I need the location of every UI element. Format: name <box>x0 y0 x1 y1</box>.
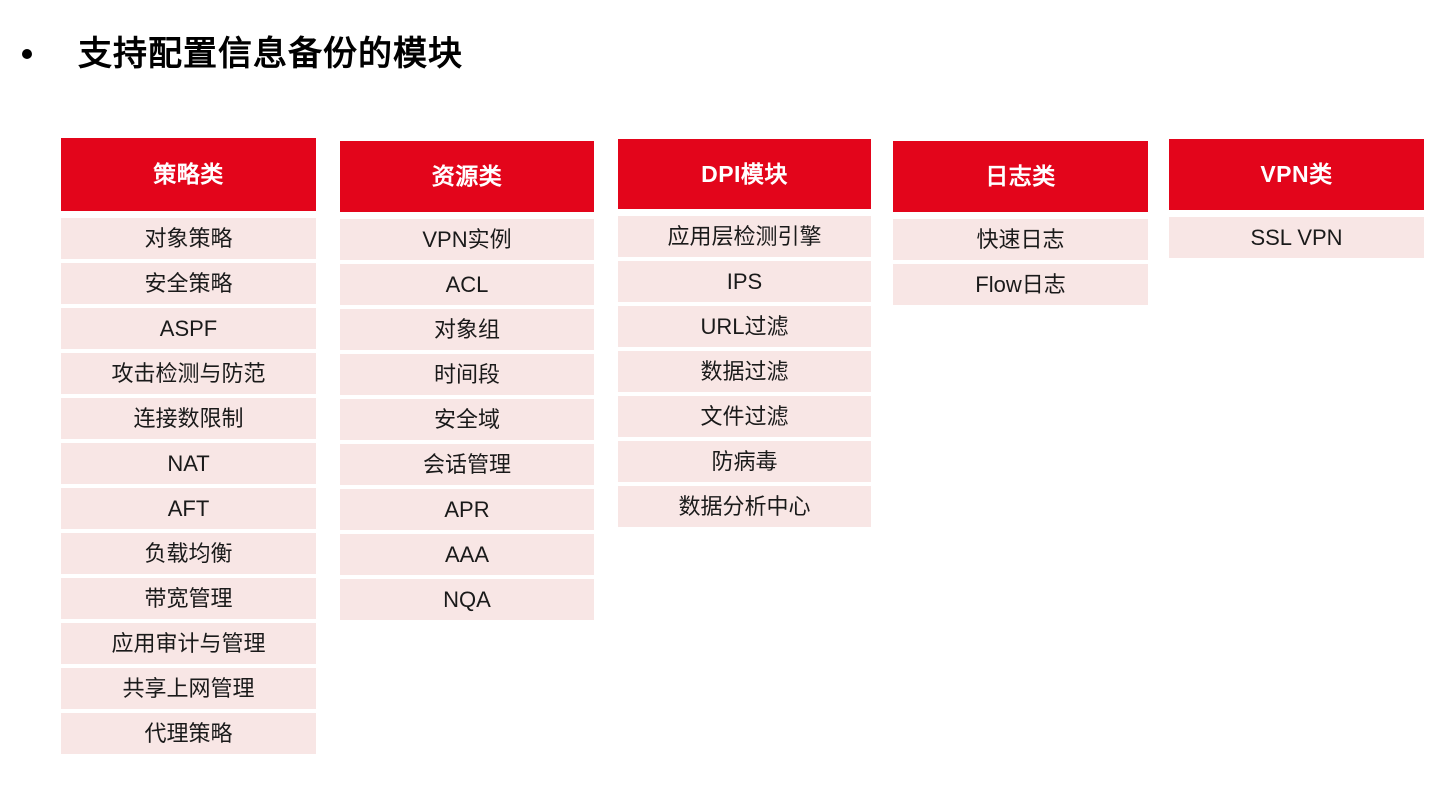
category-item-list-policy: 对象策略 安全策略 ASPF 攻击检测与防范 连接数限制 NAT AFT 负载均… <box>61 218 316 754</box>
list-item[interactable]: SSL VPN <box>1169 217 1424 258</box>
page-title: 支持配置信息备份的模块 <box>78 37 463 71</box>
column-header-log: 日志类 <box>893 141 1148 212</box>
list-item[interactable]: 连接数限制 <box>61 398 316 439</box>
list-item[interactable]: 带宽管理 <box>61 578 316 619</box>
list-item[interactable]: AAA <box>340 534 594 575</box>
list-item[interactable]: 会话管理 <box>340 444 594 485</box>
list-item[interactable]: URL过滤 <box>618 306 871 347</box>
list-item[interactable]: 应用审计与管理 <box>61 623 316 664</box>
list-item[interactable]: 攻击检测与防范 <box>61 353 316 394</box>
column-header-dpi: DPI模块 <box>618 139 871 209</box>
list-item[interactable]: 防病毒 <box>618 441 871 482</box>
list-item[interactable]: ASPF <box>61 308 316 349</box>
bullet-point-icon <box>22 49 32 59</box>
list-item[interactable]: 对象策略 <box>61 218 316 259</box>
list-item[interactable]: 数据过滤 <box>618 351 871 392</box>
list-item[interactable]: NAT <box>61 443 316 484</box>
category-column-policy: 策略类 对象策略 安全策略 ASPF 攻击检测与防范 连接数限制 NAT AFT… <box>61 138 316 754</box>
list-item[interactable]: 代理策略 <box>61 713 316 754</box>
list-item[interactable]: AFT <box>61 488 316 529</box>
list-item[interactable]: 负载均衡 <box>61 533 316 574</box>
list-item[interactable]: 安全策略 <box>61 263 316 304</box>
list-item[interactable]: 文件过滤 <box>618 396 871 437</box>
list-item[interactable]: APR <box>340 489 594 530</box>
category-column-vpn: VPN类 SSL VPN <box>1169 138 1424 258</box>
list-item[interactable]: 对象组 <box>340 309 594 350</box>
category-item-list-resource: VPN实例 ACL 对象组 时间段 安全域 会话管理 APR AAA NQA <box>340 219 594 620</box>
list-item[interactable]: 快速日志 <box>893 219 1148 260</box>
column-header-resource: 资源类 <box>340 141 594 212</box>
category-column-dpi: DPI模块 应用层检测引擎 IPS URL过滤 数据过滤 文件过滤 防病毒 数据… <box>618 138 871 527</box>
list-item[interactable]: NQA <box>340 579 594 620</box>
category-column-log: 日志类 快速日志 Flow日志 <box>893 138 1148 305</box>
list-item[interactable]: 共享上网管理 <box>61 668 316 709</box>
list-item[interactable]: 时间段 <box>340 354 594 395</box>
column-header-vpn: VPN类 <box>1169 139 1424 210</box>
list-item[interactable]: ACL <box>340 264 594 305</box>
module-category-table: 策略类 对象策略 安全策略 ASPF 攻击检测与防范 连接数限制 NAT AFT… <box>61 138 1431 754</box>
category-item-list-vpn: SSL VPN <box>1169 217 1424 258</box>
category-item-list-dpi: 应用层检测引擎 IPS URL过滤 数据过滤 文件过滤 防病毒 数据分析中心 <box>618 216 871 527</box>
category-item-list-log: 快速日志 Flow日志 <box>893 219 1148 305</box>
list-item[interactable]: VPN实例 <box>340 219 594 260</box>
list-item[interactable]: IPS <box>618 261 871 302</box>
list-item[interactable]: Flow日志 <box>893 264 1148 305</box>
list-item[interactable]: 应用层检测引擎 <box>618 216 871 257</box>
list-item[interactable]: 安全域 <box>340 399 594 440</box>
slide-title-row: 支持配置信息备份的模块 <box>0 28 463 80</box>
column-header-policy: 策略类 <box>61 138 316 211</box>
list-item[interactable]: 数据分析中心 <box>618 486 871 527</box>
category-column-resource: 资源类 VPN实例 ACL 对象组 时间段 安全域 会话管理 APR AAA N… <box>340 138 594 620</box>
